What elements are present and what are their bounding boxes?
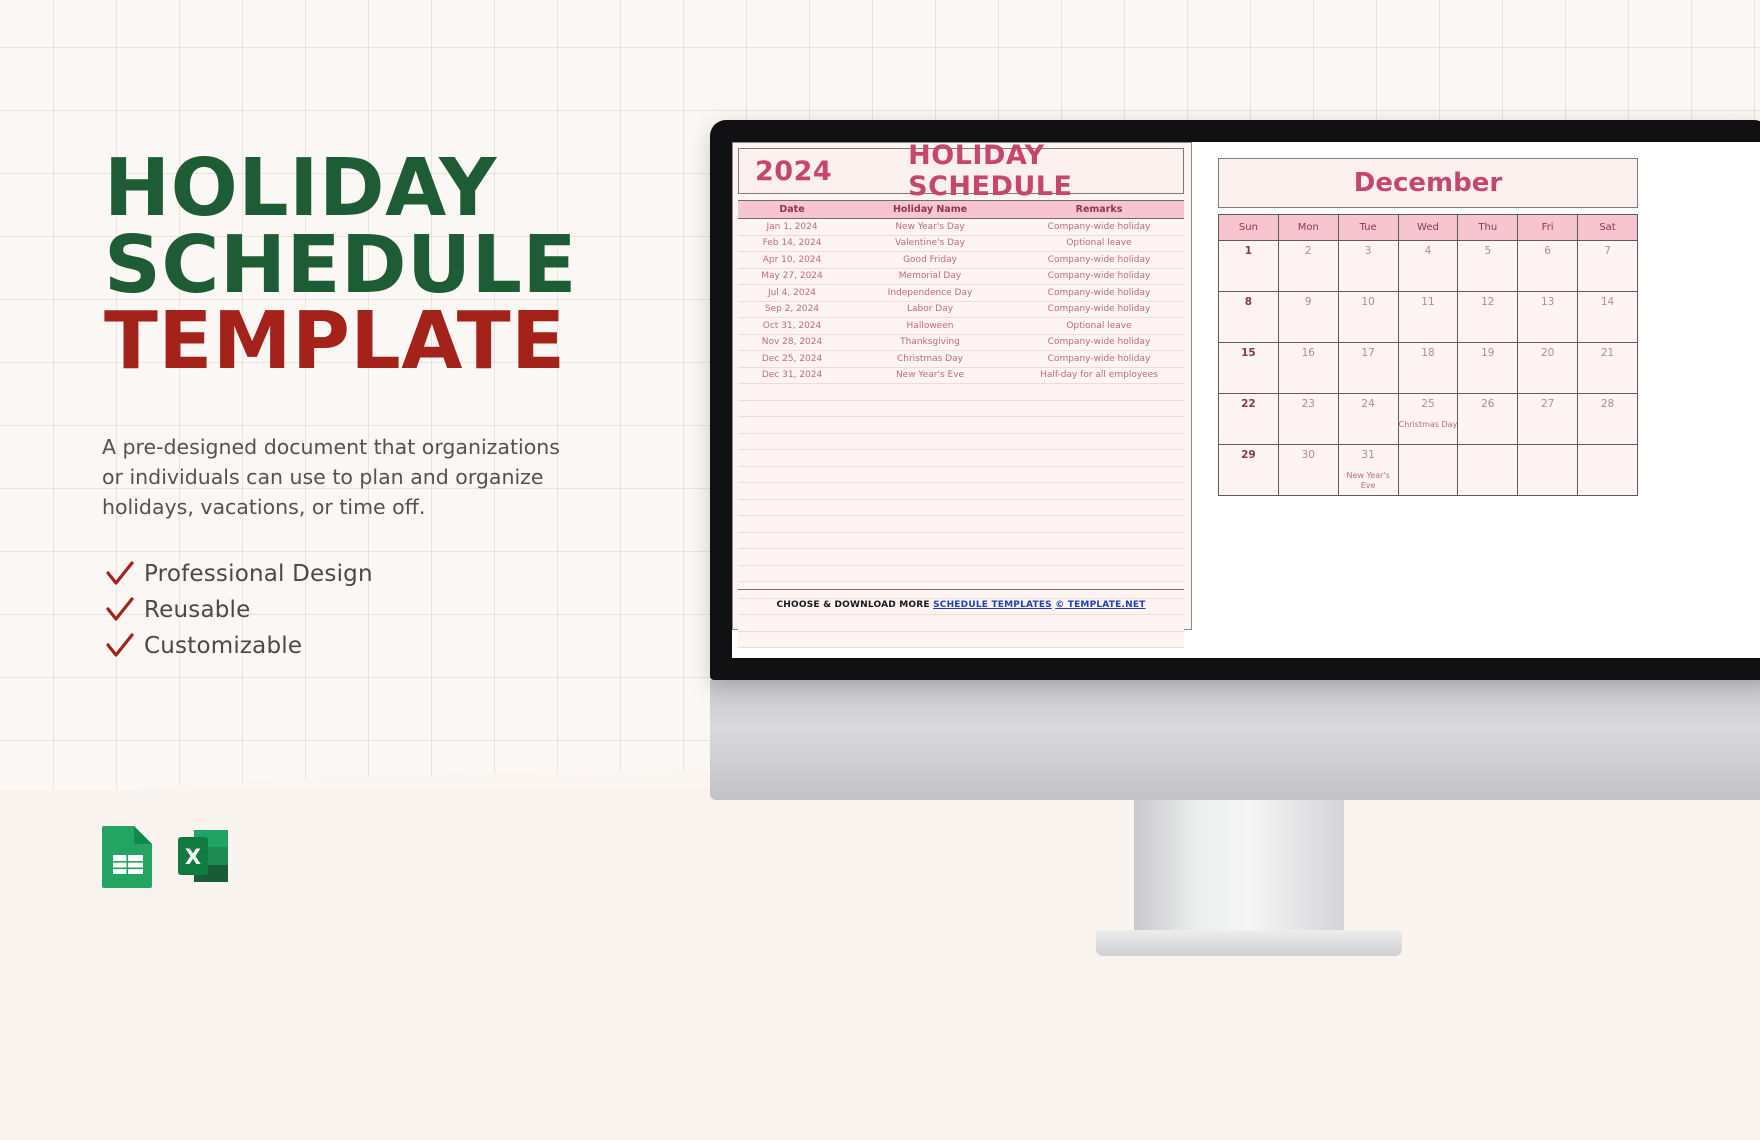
footer-copyright[interactable]: © TEMPLATE.NET — [1055, 600, 1145, 610]
calendar-day-number: 1 — [1219, 245, 1278, 257]
google-sheets-icon[interactable] — [100, 824, 156, 888]
table-cell-empty — [846, 516, 1014, 533]
table-row[interactable]: Sep 2, 2024Labor DayCompany-wide holiday — [738, 301, 1184, 318]
table-cell-empty — [846, 417, 1014, 434]
table-row[interactable]: Dec 25, 2024Christmas DayCompany-wide ho… — [738, 351, 1184, 368]
table-row-empty[interactable] — [738, 466, 1184, 483]
calendar-day-cell[interactable]: 12 — [1458, 292, 1518, 343]
calendar-grid[interactable]: SunMonTueWedThuFriSat 123456789101112131… — [1218, 214, 1638, 496]
table-cell-remarks: Company-wide holiday — [1014, 334, 1184, 351]
table-row-empty[interactable] — [738, 615, 1184, 632]
calendar-day-cell[interactable]: 16 — [1278, 343, 1338, 394]
table-cell-empty — [738, 499, 846, 516]
table-row-empty[interactable] — [738, 516, 1184, 533]
table-cell-date: Jan 1, 2024 — [738, 219, 846, 236]
app-format-icons: X — [100, 824, 232, 888]
calendar-day-cell[interactable]: 7 — [1578, 241, 1638, 292]
table-cell-empty — [846, 466, 1014, 483]
calendar-day-number: 11 — [1399, 296, 1458, 308]
calendar-day-cell[interactable]: 18 — [1398, 343, 1458, 394]
calendar-weekday-sat: Sat — [1578, 215, 1638, 241]
table-cell-remarks: Company-wide holiday — [1014, 268, 1184, 285]
table-cell-empty — [1014, 483, 1184, 500]
document-year: 2024 — [755, 156, 832, 187]
table-cell-holiday: Good Friday — [846, 252, 1014, 269]
table-cell-remarks: Company-wide holiday — [1014, 301, 1184, 318]
calendar-day-number: 14 — [1578, 296, 1637, 308]
table-cell-empty — [1014, 631, 1184, 648]
calendar-day-number: 12 — [1458, 296, 1517, 308]
table-row-empty[interactable] — [738, 400, 1184, 417]
table-cell-empty — [1014, 400, 1184, 417]
table-cell-holiday: New Year's Eve — [846, 367, 1014, 384]
table-cell-date: Apr 10, 2024 — [738, 252, 846, 269]
table-cell-empty — [846, 400, 1014, 417]
feature-list: Professional Design Reusable Customizabl… — [100, 556, 373, 664]
table-row-empty[interactable] — [738, 450, 1184, 467]
calendar-day-cell[interactable]: 1 — [1219, 241, 1279, 292]
calendar-day-cell-empty — [1578, 445, 1638, 496]
feature-label: Customizable — [144, 633, 302, 659]
feature-label: Professional Design — [144, 561, 373, 587]
calendar-day-cell[interactable]: 10 — [1338, 292, 1398, 343]
calendar-day-number: 6 — [1518, 245, 1577, 257]
document-bottom-rule — [738, 589, 1184, 590]
calendar-day-cell[interactable]: 5 — [1458, 241, 1518, 292]
list-item: Customizable — [100, 628, 373, 664]
monitor-base-plate — [710, 680, 1760, 800]
calendar-day-number: 28 — [1578, 398, 1637, 410]
list-item: Professional Design — [100, 556, 373, 592]
calendar-week-row: 22232425Christmas Day262728 — [1219, 394, 1638, 445]
page-title: HOLIDAY SCHEDULE TEMPLATE — [104, 150, 664, 380]
calendar-day-number: 15 — [1219, 347, 1278, 359]
calendar-day-cell[interactable]: 6 — [1518, 241, 1578, 292]
calendar-day-cell-empty — [1458, 445, 1518, 496]
page-description: A pre-designed document that organizatio… — [102, 432, 582, 522]
calendar-day-number: 26 — [1458, 398, 1517, 410]
calendar-day-cell[interactable]: 27 — [1518, 394, 1578, 445]
table-cell-empty — [738, 417, 846, 434]
page-title-line-1: HOLIDAY — [104, 150, 664, 227]
table-row[interactable]: Dec 31, 2024New Year's EveHalf-day for a… — [738, 367, 1184, 384]
table-cell-empty — [738, 549, 846, 566]
table-cell-remarks: Company-wide holiday — [1014, 219, 1184, 236]
check-icon — [100, 592, 140, 628]
table-cell-empty — [846, 450, 1014, 467]
table-row-empty[interactable] — [738, 433, 1184, 450]
microsoft-excel-icon[interactable]: X — [176, 824, 232, 888]
holiday-table[interactable]: Date Holiday Name Remarks Jan 1, 2024New… — [738, 200, 1184, 648]
calendar-day-number: 10 — [1339, 296, 1398, 308]
table-cell-holiday: Labor Day — [846, 301, 1014, 318]
calendar-day-number: 30 — [1279, 449, 1338, 461]
calendar-day-number: 29 — [1219, 449, 1278, 461]
calendar-day-number: 31 — [1339, 449, 1398, 461]
holiday-table-body: Jan 1, 2024New Year's DayCompany-wide ho… — [738, 219, 1184, 648]
table-row[interactable]: Jul 4, 2024Independence DayCompany-wide … — [738, 285, 1184, 302]
calendar-weekday-mon: Mon — [1278, 215, 1338, 241]
table-cell-empty — [738, 615, 846, 632]
monitor-stand-neck — [1134, 800, 1344, 940]
table-cell-empty — [1014, 450, 1184, 467]
calendar-day-cell[interactable]: 11 — [1398, 292, 1458, 343]
table-cell-empty — [1014, 384, 1184, 401]
calendar-weekday-sun: Sun — [1219, 215, 1279, 241]
calendar-day-cell[interactable]: 15 — [1219, 343, 1279, 394]
table-cell-remarks: Company-wide holiday — [1014, 351, 1184, 368]
calendar-day-cell[interactable]: 19 — [1458, 343, 1518, 394]
table-row[interactable]: May 27, 2024Memorial DayCompany-wide hol… — [738, 268, 1184, 285]
table-cell-empty — [738, 565, 846, 582]
calendar-weekday-tue: Tue — [1338, 215, 1398, 241]
table-cell-empty — [1014, 433, 1184, 450]
svg-text:X: X — [185, 845, 201, 869]
calendar-day-number: 3 — [1339, 245, 1398, 257]
table-cell-empty — [1014, 549, 1184, 566]
calendar-day-cell[interactable]: 29 — [1219, 445, 1279, 496]
table-cell-empty — [738, 450, 846, 467]
document-footer: CHOOSE & DOWNLOAD MORE SCHEDULE TEMPLATE… — [732, 600, 1190, 610]
table-cell-empty — [738, 516, 846, 533]
calendar-week-row: 15161718192021 — [1219, 343, 1638, 394]
table-header-row: Date Holiday Name Remarks — [738, 201, 1184, 219]
table-row-empty[interactable] — [738, 499, 1184, 516]
calendar-day-cell[interactable]: 20 — [1518, 343, 1578, 394]
calendar-body: 1234567891011121314151617181920212223242… — [1219, 241, 1638, 496]
calendar-weekday-fri: Fri — [1518, 215, 1578, 241]
calendar-day-note: New Year's Eve — [1339, 471, 1398, 491]
list-item: Reusable — [100, 592, 373, 628]
footer-link-schedule-templates[interactable]: SCHEDULE TEMPLATES — [933, 600, 1052, 610]
table-cell-empty — [846, 631, 1014, 648]
calendar-day-number: 5 — [1458, 245, 1517, 257]
calendar-day-cell[interactable]: 26 — [1458, 394, 1518, 445]
monitor-mockup: 2024 HOLIDAY SCHEDULE Date Holiday Name … — [710, 120, 1760, 680]
table-cell-empty — [1014, 565, 1184, 582]
table-row-empty[interactable] — [738, 483, 1184, 500]
table-cell-date: Jul 4, 2024 — [738, 285, 846, 302]
table-cell-date: Sep 2, 2024 — [738, 301, 846, 318]
table-cell-remarks: Optional leave — [1014, 318, 1184, 335]
calendar-day-number: 2 — [1279, 245, 1338, 257]
calendar-day-cell[interactable]: 3 — [1338, 241, 1398, 292]
page-title-line-3: TEMPLATE — [104, 303, 664, 380]
column-header-date: Date — [738, 201, 846, 219]
calendar-week-row: 891011121314 — [1219, 292, 1638, 343]
table-cell-holiday: New Year's Day — [846, 219, 1014, 236]
calendar-month-title: December — [1354, 168, 1502, 198]
table-cell-holiday: Halloween — [846, 318, 1014, 335]
table-cell-empty — [738, 466, 846, 483]
table-row[interactable]: Oct 31, 2024HalloweenOptional leave — [738, 318, 1184, 335]
calendar-day-number: 8 — [1219, 296, 1278, 308]
calendar-day-number: 20 — [1518, 347, 1577, 359]
calendar-weekday-thu: Thu — [1458, 215, 1518, 241]
table-cell-empty — [846, 384, 1014, 401]
calendar-week-row: 1234567 — [1219, 241, 1638, 292]
table-cell-date: Nov 28, 2024 — [738, 334, 846, 351]
calendar-day-cell[interactable]: 8 — [1219, 292, 1279, 343]
footer-prefix: CHOOSE & DOWNLOAD MORE — [776, 600, 929, 610]
calendar-header-row: SunMonTueWedThuFriSat — [1219, 215, 1638, 241]
table-row-empty[interactable] — [738, 417, 1184, 434]
december-calendar-document[interactable]: December SunMonTueWedThuFriSat 123456789… — [1218, 154, 1760, 642]
calendar-day-cell[interactable]: 22 — [1219, 394, 1279, 445]
table-cell-empty — [738, 433, 846, 450]
calendar-day-number: 7 — [1578, 245, 1637, 257]
calendar-day-number: 19 — [1458, 347, 1517, 359]
table-cell-date: Feb 14, 2024 — [738, 235, 846, 252]
table-row[interactable]: Jan 1, 2024New Year's DayCompany-wide ho… — [738, 219, 1184, 236]
calendar-day-cell[interactable]: 13 — [1518, 292, 1578, 343]
calendar-day-number: 21 — [1578, 347, 1637, 359]
calendar-day-number: 17 — [1339, 347, 1398, 359]
table-cell-holiday: Independence Day — [846, 285, 1014, 302]
table-row[interactable]: Feb 14, 2024Valentine's DayOptional leav… — [738, 235, 1184, 252]
table-cell-empty — [738, 631, 846, 648]
table-row[interactable]: Apr 10, 2024Good FridayCompany-wide holi… — [738, 252, 1184, 269]
column-header-holiday-name: Holiday Name — [846, 201, 1014, 219]
table-cell-date: Oct 31, 2024 — [738, 318, 846, 335]
table-cell-holiday: Memorial Day — [846, 268, 1014, 285]
calendar-day-number: 23 — [1279, 398, 1338, 410]
calendar-day-cell-empty — [1518, 445, 1578, 496]
table-cell-remarks: Company-wide holiday — [1014, 252, 1184, 269]
monitor-screen: 2024 HOLIDAY SCHEDULE Date Holiday Name … — [732, 142, 1760, 658]
table-row-empty[interactable] — [738, 565, 1184, 582]
table-row-empty[interactable] — [738, 532, 1184, 549]
calendar-title-bar: December — [1218, 158, 1638, 208]
calendar-day-cell[interactable]: 23 — [1278, 394, 1338, 445]
check-icon — [100, 628, 140, 664]
table-cell-holiday: Valentine's Day — [846, 235, 1014, 252]
calendar-day-number: 27 — [1518, 398, 1577, 410]
column-header-remarks: Remarks — [1014, 201, 1184, 219]
calendar-day-number: 9 — [1279, 296, 1338, 308]
calendar-day-number: 13 — [1518, 296, 1577, 308]
table-cell-remarks: Half-day for all employees — [1014, 367, 1184, 384]
table-cell-empty — [1014, 499, 1184, 516]
table-cell-empty — [1014, 417, 1184, 434]
table-row[interactable]: Nov 28, 2024ThanksgivingCompany-wide hol… — [738, 334, 1184, 351]
table-cell-date: May 27, 2024 — [738, 268, 846, 285]
calendar-day-cell[interactable]: 31New Year's Eve — [1338, 445, 1398, 496]
document-title-bar: 2024 HOLIDAY SCHEDULE — [738, 148, 1184, 194]
calendar-day-number: 4 — [1399, 245, 1458, 257]
table-row-empty[interactable] — [738, 549, 1184, 566]
calendar-day-number: 25 — [1399, 398, 1458, 410]
check-icon — [100, 556, 140, 592]
table-cell-empty — [846, 532, 1014, 549]
table-cell-empty — [738, 532, 846, 549]
table-cell-date: Dec 25, 2024 — [738, 351, 846, 368]
table-cell-empty — [846, 615, 1014, 632]
table-cell-empty — [1014, 466, 1184, 483]
table-cell-empty — [738, 483, 846, 500]
table-cell-empty — [846, 483, 1014, 500]
calendar-day-cell[interactable]: 2 — [1278, 241, 1338, 292]
table-cell-holiday: Christmas Day — [846, 351, 1014, 368]
table-cell-empty — [846, 433, 1014, 450]
calendar-day-note: Christmas Day — [1399, 420, 1458, 430]
calendar-day-cell[interactable]: 9 — [1278, 292, 1338, 343]
calendar-weekday-wed: Wed — [1398, 215, 1458, 241]
calendar-day-cell[interactable]: 28 — [1578, 394, 1638, 445]
table-cell-holiday: Thanksgiving — [846, 334, 1014, 351]
calendar-day-cell-empty — [1398, 445, 1458, 496]
page-title-line-2: SCHEDULE — [104, 227, 664, 304]
calendar-day-cell[interactable]: 21 — [1578, 343, 1638, 394]
calendar-day-cell[interactable]: 17 — [1338, 343, 1398, 394]
table-row-empty[interactable] — [738, 631, 1184, 648]
left-panel: HOLIDAY SCHEDULE TEMPLATE A pre-designed… — [0, 0, 700, 1140]
monitor-stand-foot — [1096, 930, 1402, 956]
table-cell-date: Dec 31, 2024 — [738, 367, 846, 384]
calendar-day-number: 18 — [1399, 347, 1458, 359]
table-cell-empty — [1014, 516, 1184, 533]
holiday-schedule-document[interactable]: 2024 HOLIDAY SCHEDULE Date Holiday Name … — [732, 142, 1192, 630]
table-cell-empty — [1014, 615, 1184, 632]
table-cell-empty — [1014, 532, 1184, 549]
calendar-day-number: 24 — [1339, 398, 1398, 410]
feature-label: Reusable — [144, 597, 251, 623]
table-cell-empty — [738, 384, 846, 401]
calendar-day-cell[interactable]: 14 — [1578, 292, 1638, 343]
table-cell-empty — [738, 400, 846, 417]
calendar-day-cell[interactable]: 24 — [1338, 394, 1398, 445]
table-cell-remarks: Company-wide holiday — [1014, 285, 1184, 302]
document-title: HOLIDAY SCHEDULE — [908, 142, 1183, 202]
table-cell-empty — [846, 565, 1014, 582]
table-row-empty[interactable] — [738, 384, 1184, 401]
table-cell-empty — [846, 549, 1014, 566]
calendar-day-number: 16 — [1279, 347, 1338, 359]
table-cell-empty — [846, 499, 1014, 516]
table-cell-remarks: Optional leave — [1014, 235, 1184, 252]
calendar-week-row: 293031New Year's Eve — [1219, 445, 1638, 496]
calendar-day-cell[interactable]: 30 — [1278, 445, 1338, 496]
calendar-day-number: 22 — [1219, 398, 1278, 410]
calendar-day-cell[interactable]: 25Christmas Day — [1398, 394, 1458, 445]
calendar-day-cell[interactable]: 4 — [1398, 241, 1458, 292]
